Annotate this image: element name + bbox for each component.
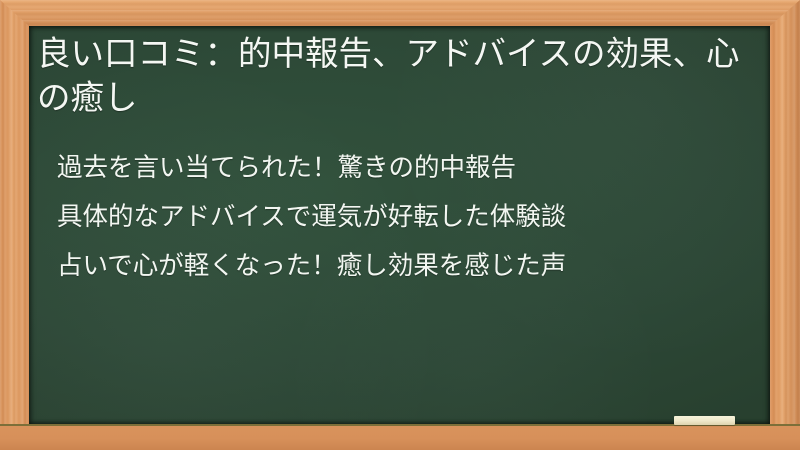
slide-bullet-list: 過去を言い当てられた！驚きの的中報告 具体的なアドバイスで運気が好転した体験談 …: [29, 154, 749, 280]
list-item: 具体的なアドバイスで運気が好転した体験談: [29, 203, 749, 231]
list-item: 占いで心が軽くなった！癒し効果を感じた声: [29, 252, 749, 280]
chalkboard-surface: 良い口コミ：的中報告、アドバイスの効果、心の癒し 過去を言い当てられた！驚きの的…: [29, 26, 770, 424]
chalk-stick-icon: [674, 416, 735, 425]
frame-rail-right: [770, 0, 800, 450]
frame-rail-left: [0, 0, 29, 450]
frame-rail-top: [0, 0, 800, 26]
chalkboard-slide: 良い口コミ：的中報告、アドバイスの効果、心の癒し 過去を言い当てられた！驚きの的…: [0, 0, 800, 450]
frame-rail-bottom-ledge: [0, 424, 800, 450]
list-item: 過去を言い当てられた！驚きの的中報告: [29, 154, 749, 182]
slide-title: 良い口コミ：的中報告、アドバイスの効果、心の癒し: [37, 32, 743, 120]
